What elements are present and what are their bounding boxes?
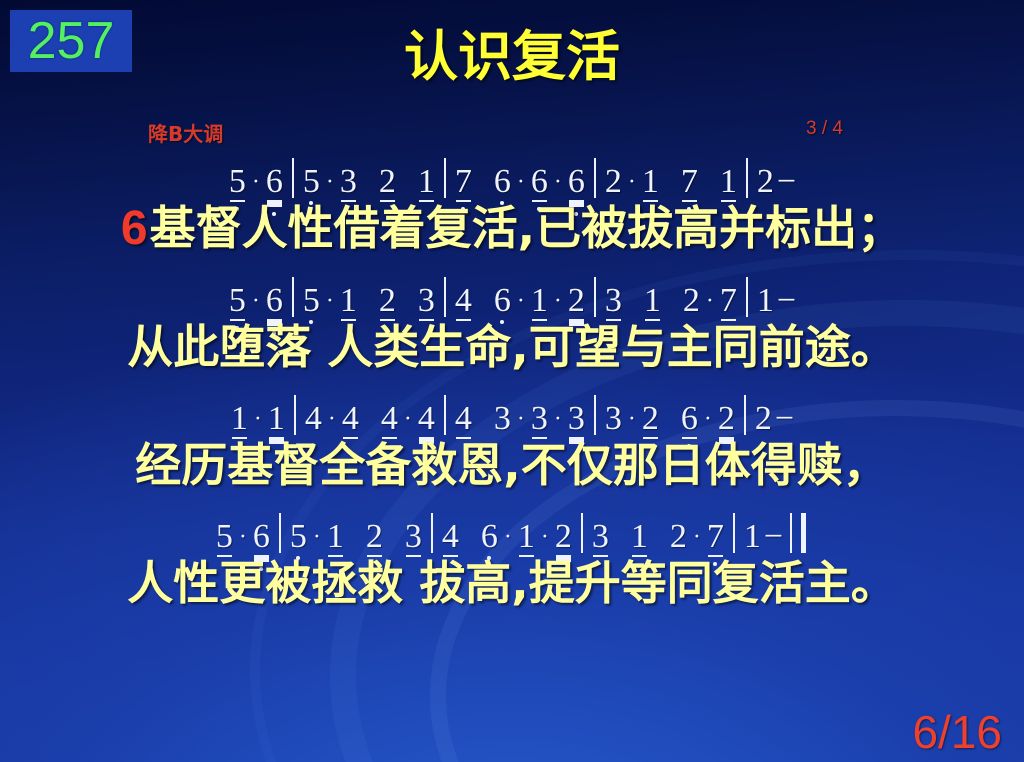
note: 1 [266,401,287,437]
note-digit: 6 [494,164,511,200]
time-signature-label: 3 / 4 [806,118,843,140]
note-digit: 1 [744,519,761,555]
lyric-line: 6基督人性借着复活,已被拔高并标出； [0,200,1024,257]
barline [594,277,596,317]
duration-dash: − [776,283,797,319]
note-digit: 3 [418,283,435,319]
note-digit: 1 [644,283,661,319]
duration-dot: · [689,525,705,555]
note-digit: 2 [755,401,772,437]
measure: 1·1 [229,401,287,437]
note: 2 [377,164,398,200]
note: 1 [229,401,250,437]
measure: 1− [755,283,797,319]
note-digit: 2 [605,164,622,200]
note-digit: 5 [216,519,233,555]
note-digit: 6 [253,519,270,555]
note-digit: 2 [366,519,383,555]
note: 1 [640,164,661,200]
note-digit: 2 [379,283,396,319]
note: 1 [755,283,776,319]
note: 2 [566,283,587,319]
notation-line: 5·65·12346·1·2312·71− [0,503,1024,555]
note-digit: 2 [642,401,659,437]
duration-dot: · [309,525,325,555]
note-digit: 6 [481,519,498,555]
music-system: 1·14·44·443·3·33·26·22−经历基督全备救恩,不仅那日体得赎， [0,385,1024,493]
note-digit: 5 [229,164,246,200]
measure: 2− [755,164,797,200]
note: 6 [251,519,272,555]
note-digit: 6 [681,401,698,437]
note: 1 [338,283,359,319]
measure: 312·7 [590,519,726,555]
note: 1 [416,164,437,200]
note: 3 [492,401,513,437]
note-digit: 6 [494,283,511,319]
duration-dot: · [550,170,566,200]
note-digit: 1 [518,519,535,555]
note: 4 [379,401,400,437]
duration-dot: · [513,407,529,437]
barline [444,158,446,198]
duration-dot: · [513,289,529,319]
lyric-text: 从此堕落 人类生命,可望与主同前途。 [127,320,897,374]
measure: 312·7 [603,283,739,319]
note-digit: 2 [555,519,572,555]
note-digit: 1 [720,164,737,200]
note-digit: 7 [681,164,698,200]
note: 2 [668,519,689,555]
note: 7 [718,283,739,319]
duration-dot: · [550,289,566,319]
music-system: 5·65·12346·1·2312·71−人性更被拯救 拔高,提升等同复活主。 [0,503,1024,611]
note-digit: 4 [455,283,472,319]
lyric-line: 从此堕落 人类生命,可望与主同前途。 [0,319,1024,375]
note: 2 [377,283,398,319]
verse-number: 6 [121,202,148,255]
note: 1 [718,164,739,200]
note: 5 [301,283,322,319]
note-digit: 7 [720,283,737,319]
note: 1 [325,519,346,555]
music-system: 5·65·32176·6·62·1712−6基督人性借着复活,已被拔高并标出； [0,148,1024,257]
barline [581,513,583,553]
barline [746,277,748,317]
barline [444,277,446,317]
duration-dot: · [537,525,553,555]
duration-dot: · [624,407,640,437]
note: 3 [566,401,587,437]
lyric-line: 经历基督全备救恩,不仅那日体得赎， [0,437,1024,493]
note-digit: 5 [290,519,307,555]
note: 1 [516,519,537,555]
note-digit: 2 [683,283,700,319]
note: 3 [403,519,424,555]
note-digit: 1 [268,401,285,437]
barline [279,513,281,553]
barline [292,277,294,317]
note-digit: 4 [305,401,322,437]
duration-dot: · [513,170,529,200]
measure: 2·171 [603,164,739,200]
note: 1 [742,519,763,555]
note: 1 [529,283,550,319]
measure: 46·1·2 [453,283,587,319]
note: 3 [603,401,624,437]
note-digit: 2 [670,519,687,555]
note-digit: 4 [455,401,472,437]
note: 3 [416,283,437,319]
barline [294,395,296,435]
lyric-text: 经历基督全备救恩,不仅那日体得赎， [135,438,888,492]
note-digit: 1 [757,283,774,319]
duration-dot: · [624,170,640,200]
note: 2 [603,164,624,200]
measure: 5·6 [214,519,272,555]
duration-dash: − [776,164,797,200]
note-digit: 2 [757,164,774,200]
note: 5 [227,164,248,200]
duration-dot: · [324,407,340,437]
note-digit: 3 [568,401,585,437]
measure: 5·123 [288,519,424,555]
note: 6 [492,283,513,319]
note-digit: 6 [266,283,283,319]
lyric-line: 人性更被拯救 拔高,提升等同复活主。 [0,555,1024,611]
note: 4 [453,283,474,319]
measure: 5·6 [227,164,285,200]
measure: 2− [753,401,795,437]
note-digit: 6 [266,164,283,200]
note: 4 [440,519,461,555]
note: 7 [705,519,726,555]
note: 4 [303,401,324,437]
note-digit: 7 [455,164,472,200]
note-digit: 2 [718,401,735,437]
duration-dot: · [322,289,338,319]
barline [594,395,596,435]
page-title: 认识复活 [0,28,1024,86]
note: 2 [755,164,776,200]
note: 6 [529,164,550,200]
note-digit: 4 [381,401,398,437]
note: 6 [264,283,285,319]
duration-dot: · [235,525,251,555]
note: 2 [753,401,774,437]
note: 6 [492,164,513,200]
note: 6 [566,164,587,200]
key-signature-label: 降B大调 [148,118,223,147]
duration-dot: · [700,407,716,437]
duration-dash: − [763,519,784,555]
page-counter: 6/16 [912,708,1002,756]
note-digit: 5 [303,164,320,200]
note-digit: 4 [442,519,459,555]
duration-dash: − [774,401,795,437]
note: 2 [681,283,702,319]
note-digit: 4 [418,401,435,437]
barline [733,513,735,553]
music-body: 5·65·32176·6·62·1712−6基督人性借着复活,已被拔高并标出；5… [0,148,1024,621]
note-digit: 3 [340,164,357,200]
duration-dot: · [248,289,264,319]
note-digit: 3 [494,401,511,437]
note-digit: 3 [605,283,622,319]
note-digit: 6 [568,164,585,200]
note-digit: 1 [631,519,648,555]
note: 4 [340,401,361,437]
measure: 5·321 [301,164,437,200]
notation-line: 5·65·12346·1·2312·71− [0,267,1024,319]
barline [594,158,596,198]
note-digit: 5 [303,283,320,319]
note: 5 [301,164,322,200]
note-digit: 7 [707,519,724,555]
note: 2 [553,519,574,555]
measure: 43·3·3 [453,401,587,437]
note-digit: 1 [531,283,548,319]
measure: 46·1·2 [440,519,574,555]
note: 2 [364,519,385,555]
measure: 5·6 [227,283,285,319]
duration-dot: · [248,170,264,200]
note: 1 [629,519,650,555]
note-digit: 2 [379,164,396,200]
measure: 3·26·2 [603,401,737,437]
note-digit: 1 [340,283,357,319]
measure: 5·123 [301,283,437,319]
note: 7 [453,164,474,200]
note-digit: 4 [342,401,359,437]
note-digit: 3 [531,401,548,437]
duration-dot: · [250,407,266,437]
note-digit: 3 [405,519,422,555]
barline [292,158,294,198]
duration-dot: · [702,289,718,319]
measure: 4·44·4 [303,401,437,437]
music-system: 5·65·12346·1·2312·71−从此堕落 人类生命,可望与主同前途。 [0,267,1024,375]
note: 5 [227,283,248,319]
note: 1 [642,283,663,319]
note-digit: 1 [231,401,248,437]
note-digit: 1 [327,519,344,555]
note: 3 [590,519,611,555]
measure: 1− [742,513,810,555]
note-digit: 1 [642,164,659,200]
barline [444,395,446,435]
note-digit: 2 [568,283,585,319]
barline [744,395,746,435]
duration-dot: · [550,407,566,437]
note: 5 [288,519,309,555]
lyric-text: 人性更被拯救 拔高,提升等同复活主。 [127,556,897,610]
barline [431,513,433,553]
note-digit: 1 [418,164,435,200]
note-digit: 6 [531,164,548,200]
note: 6 [264,164,285,200]
measure: 76·6·6 [453,164,587,200]
note: 4 [453,401,474,437]
note: 7 [679,164,700,200]
duration-dot: · [500,525,516,555]
duration-dot: · [322,170,338,200]
note-digit: 3 [605,401,622,437]
barline [746,158,748,198]
note: 4 [416,401,437,437]
note: 2 [640,401,661,437]
note: 3 [529,401,550,437]
lyric-text: 基督人性借着复活,已被拔高并标出； [150,201,903,255]
note: 6 [679,401,700,437]
note: 6 [479,519,500,555]
note-digit: 5 [229,283,246,319]
note: 5 [214,519,235,555]
final-barline [790,513,806,553]
note: 3 [338,164,359,200]
notation-line: 5·65·32176·6·62·1712− [0,148,1024,200]
note: 3 [603,283,624,319]
note: 2 [716,401,737,437]
duration-dot: · [400,407,416,437]
note-digit: 3 [592,519,609,555]
notation-line: 1·14·44·443·3·33·26·22− [0,385,1024,437]
hymn-slide: 257 认识复活 降B大调 3 / 4 5·65·32176·6·62·1712… [0,0,1024,762]
